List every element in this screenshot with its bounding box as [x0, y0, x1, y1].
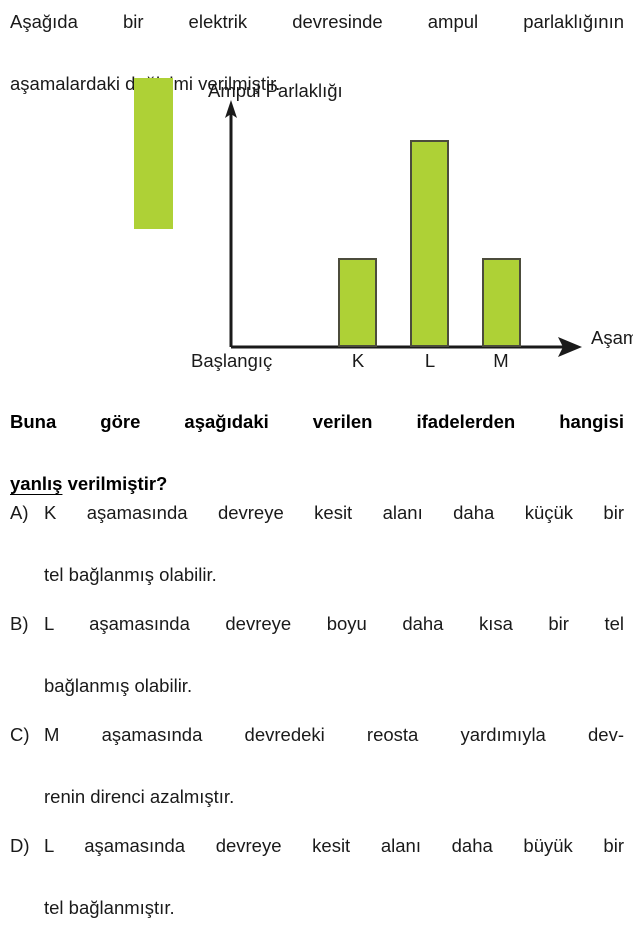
option-b-marker: B) — [10, 608, 44, 639]
option-a-line-1: K aşamasında devreye kesit alanı daha kü… — [44, 497, 624, 559]
intro-line-1: Aşağıda bir elektrik devresinde ampul pa… — [10, 6, 624, 68]
option-d-line-2: tel bağlanmıştır. — [44, 892, 624, 923]
option-c-marker: C) — [10, 719, 44, 750]
option-c-line-2: renin direnci azalmıştır. — [44, 781, 624, 812]
option-b-line-2: bağlanmış olabilir. — [44, 670, 624, 701]
x-tick-label-k: K — [340, 350, 376, 372]
option-c[interactable]: C) M aşamasında devredeki reosta yardımı… — [10, 719, 624, 812]
bar-k — [410, 140, 449, 347]
stem-line-1: Buna göre aşağıdaki verilen ifadelerden … — [10, 406, 624, 468]
option-d-marker: D) — [10, 830, 44, 861]
option-d[interactable]: D) L aşamasında devreye kesit alanı daha… — [10, 830, 624, 923]
option-d-line-1: L aşamasında devreye kesit alanı daha bü… — [44, 830, 624, 892]
option-c-line-1: M aşamasında devredeki reosta yardımıyla… — [44, 719, 624, 781]
option-a[interactable]: A) K aşamasında devreye kesit alanı daha… — [10, 497, 624, 590]
option-b-text: L aşamasında devreye boyu daha kısa bir … — [44, 608, 624, 701]
x-axis-title: Aşamalar — [591, 327, 633, 349]
bar-chart: Ampul Parlaklığı Başlangıç K L M Aşamala… — [134, 78, 173, 229]
chart-plot-area: Başlangıç K L M Aşamalar — [134, 78, 633, 378]
x-tick-label-l: L — [412, 350, 448, 372]
x-tick-label-m: M — [483, 350, 519, 372]
chart-bars — [134, 78, 633, 378]
stem-line-2-rest: verilmiştir? — [62, 473, 167, 494]
option-a-line-2: tel bağlanmış olabilir. — [44, 559, 624, 590]
option-b-line-1: L aşamasında devreye boyu daha kısa bir … — [44, 608, 624, 670]
option-d-text: L aşamasında devreye kesit alanı daha bü… — [44, 830, 624, 923]
option-c-text: M aşamasında devredeki reosta yardımıyla… — [44, 719, 624, 812]
bar-m — [482, 258, 521, 347]
answer-options: A) K aşamasında devreye kesit alanı daha… — [10, 497, 624, 941]
option-b[interactable]: B) L aşamasında devreye boyu daha kısa b… — [10, 608, 624, 701]
x-tick-label-baslangic: Başlangıç — [191, 350, 272, 372]
stem-emphasis: yanlış — [10, 473, 62, 494]
question-stem: Buna göre aşağıdaki verilen ifadelerden … — [10, 406, 624, 499]
option-a-marker: A) — [10, 497, 44, 528]
stem-line-2: yanlış verilmiştir? — [10, 468, 624, 499]
option-a-text: K aşamasında devreye kesit alanı daha kü… — [44, 497, 624, 590]
bar-baslangic — [338, 258, 377, 347]
